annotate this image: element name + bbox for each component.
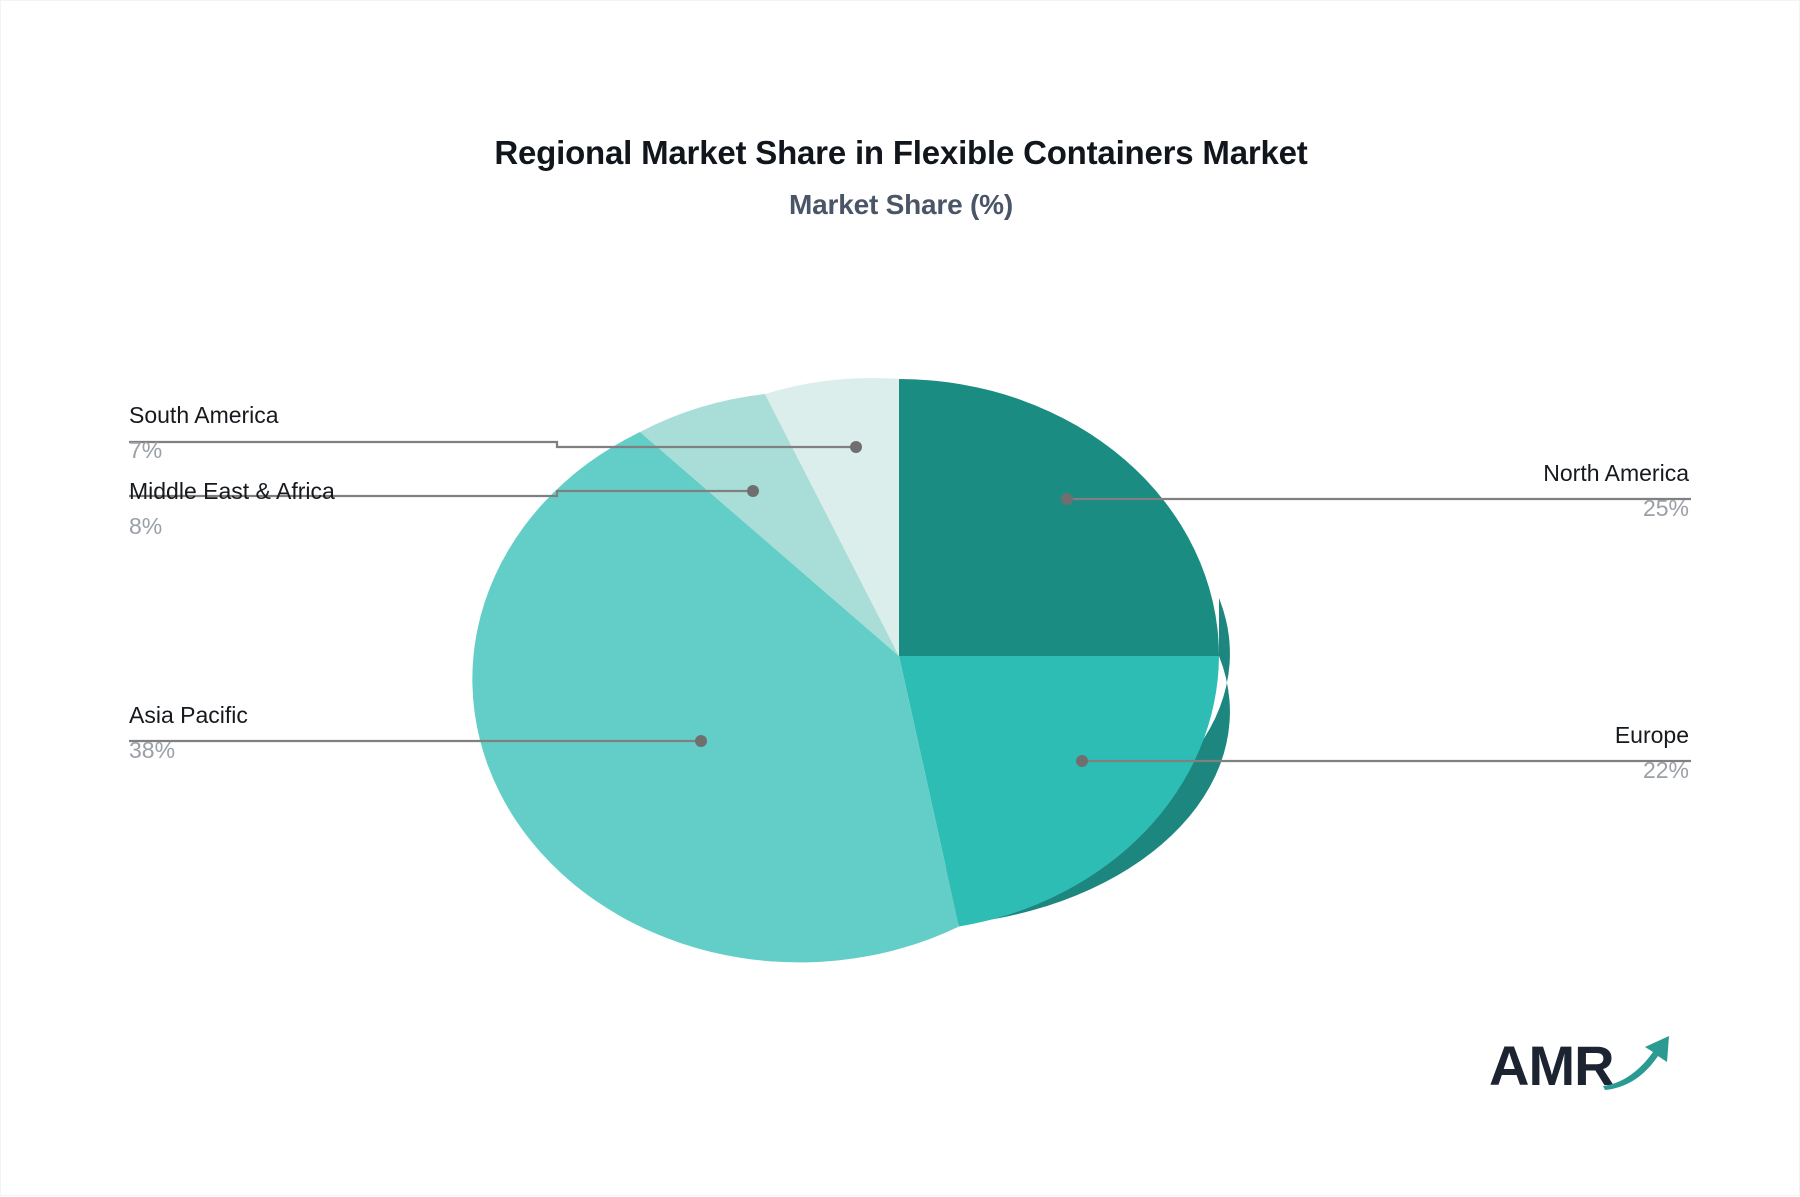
- callout-middle-east-africa[interactable]: Middle East & Africa 8%: [129, 477, 335, 541]
- callout-label-south-america: South America: [129, 401, 279, 429]
- callout-north-america[interactable]: North America 25%: [1543, 459, 1689, 523]
- callout-europe[interactable]: Europe 22%: [1615, 721, 1689, 785]
- amr-logo-text: AMR: [1489, 1036, 1614, 1096]
- leader-dot-middle-east-africa: [747, 485, 759, 497]
- pie-chart-graphic: [1, 1, 1800, 1197]
- chart-canvas: Regional Market Share in Flexible Contai…: [0, 0, 1800, 1196]
- slice-north-america[interactable]: [899, 379, 1219, 656]
- callout-label-europe: Europe: [1615, 721, 1689, 749]
- callout-value-north-america: 25%: [1543, 487, 1689, 523]
- callout-value-south-america: 7%: [129, 429, 279, 465]
- leader-dot-asia-pacific: [695, 735, 707, 747]
- callout-value-asia-pacific: 38%: [129, 729, 248, 765]
- leader-dot-north-america: [1061, 493, 1073, 505]
- callout-value-middle-east-africa: 8%: [129, 505, 335, 541]
- callout-label-asia-pacific: Asia Pacific: [129, 701, 248, 729]
- leader-dot-south-america: [850, 441, 862, 453]
- callout-south-america[interactable]: South America 7%: [129, 401, 279, 465]
- growth-arrow-icon: [1601, 1030, 1673, 1092]
- callout-label-middle-east-africa: Middle East & Africa: [129, 477, 335, 505]
- callout-asia-pacific[interactable]: Asia Pacific 38%: [129, 701, 248, 765]
- callout-value-europe: 22%: [1615, 749, 1689, 785]
- leader-dot-europe: [1076, 755, 1088, 767]
- amr-logo[interactable]: AMR: [1489, 1036, 1664, 1106]
- callout-label-north-america: North America: [1543, 459, 1689, 487]
